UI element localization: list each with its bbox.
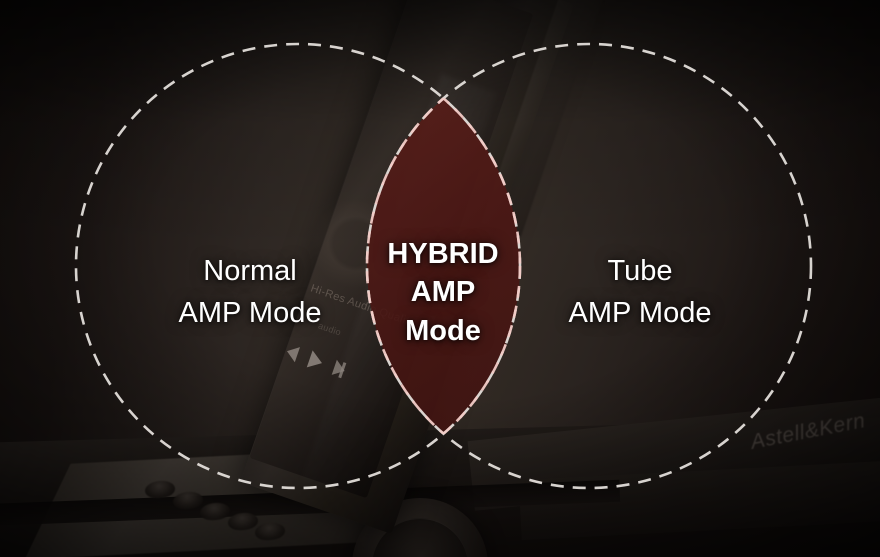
label-normal-line1: Normal [130,251,370,293]
label-hybrid-line3: Mode [363,312,523,350]
label-tube-amp-mode: Tube AMP Mode [520,251,760,335]
label-tube-line1: Tube [520,251,760,293]
label-normal-line2: AMP Mode [130,293,370,335]
label-normal-amp-mode: Normal AMP Mode [130,251,370,335]
label-tube-line2: AMP Mode [520,293,760,335]
label-hybrid-amp-mode: HYBRID AMP Mode [363,235,523,350]
label-hybrid-line2: AMP [363,273,523,311]
label-hybrid-line1: HYBRID [363,235,523,273]
screenshot-root: Hi-Res Audio Quality audio Astell&Kern [0,0,880,557]
